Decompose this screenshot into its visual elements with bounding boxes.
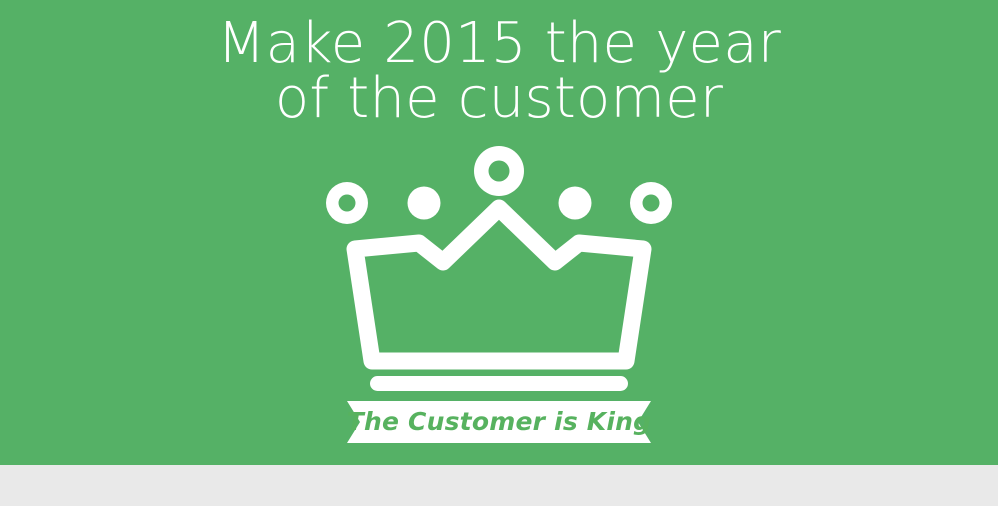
jewel-dot-center	[474, 146, 524, 196]
promo-banner: Make 2015 the year of the customer	[0, 0, 998, 506]
footer-bar: Z O H O	[0, 465, 998, 506]
hero-area: Make 2015 the year of the customer	[0, 0, 998, 465]
jewel-dot-inner-right	[559, 187, 592, 220]
ribbon-label: The Customer is King	[0, 405, 998, 439]
jewel-dot-inner-left	[408, 187, 441, 220]
headline-line-2: of the customer	[0, 71, 998, 126]
jewel-dot-outer-left	[326, 182, 368, 224]
headline-line-1: Make 2015 the year	[0, 16, 998, 71]
crown-base-bar	[370, 376, 628, 391]
crown-outline	[355, 208, 643, 361]
page-title: Make 2015 the year of the customer	[0, 16, 998, 126]
jewel-dot-outer-right	[630, 182, 672, 224]
